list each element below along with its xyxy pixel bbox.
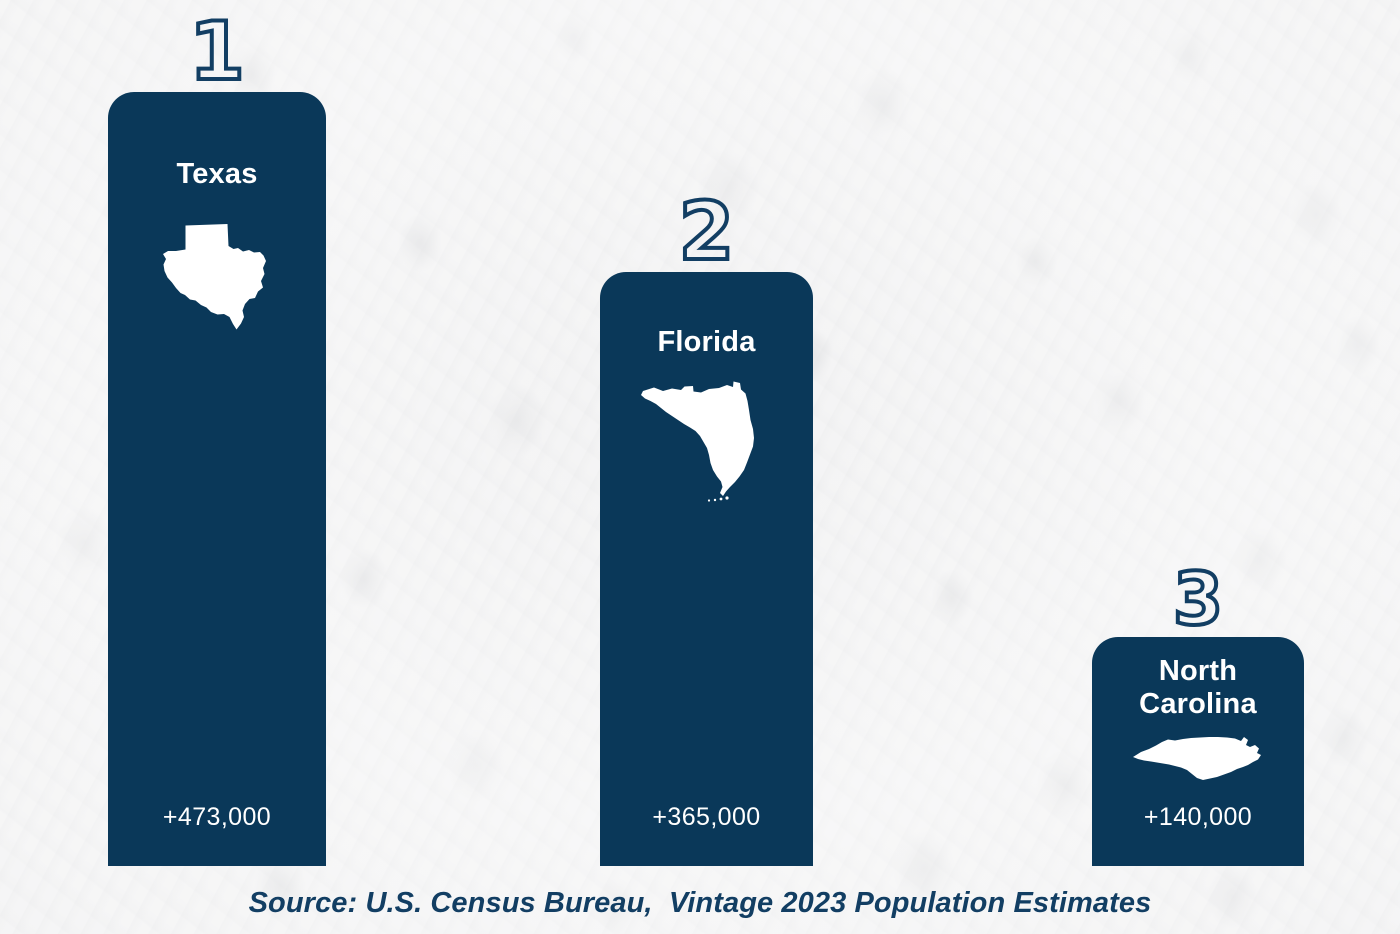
population-growth-infographic: 1 Texas +473,000 2 Florida xyxy=(0,0,1400,934)
bar-north-carolina[interactable]: North Carolina +140,000 xyxy=(1092,637,1304,866)
bar-group-north-carolina[interactable]: 3 North Carolina +140,000 xyxy=(1092,637,1304,866)
state-label-north-carolina: North Carolina xyxy=(1139,655,1257,721)
bar-florida[interactable]: Florida +365,000 xyxy=(600,272,813,866)
bar-group-florida[interactable]: 2 Florida +365,000 xyxy=(600,272,813,866)
north-carolina-state-shape-icon xyxy=(1131,731,1265,783)
value-label-texas: +473,000 xyxy=(108,803,326,832)
bar-chart: 1 Texas +473,000 2 Florida xyxy=(0,0,1400,934)
value-label-florida: +365,000 xyxy=(600,803,813,832)
value-label-north-carolina: +140,000 xyxy=(1092,803,1304,832)
state-label-florida: Florida xyxy=(657,326,755,359)
florida-state-shape-icon xyxy=(637,375,777,503)
state-label-texas: Texas xyxy=(176,158,257,191)
bar-group-texas[interactable]: 1 Texas +473,000 xyxy=(108,92,326,866)
bar-texas[interactable]: Texas +473,000 xyxy=(108,92,326,866)
texas-state-shape-icon xyxy=(159,211,275,333)
rank-number-1: 1 xyxy=(189,12,245,92)
rank-number-2: 2 xyxy=(679,192,735,272)
rank-number-3: 3 xyxy=(1173,563,1223,635)
source-note: Source: U.S. Census Bureau, Vintage 2023… xyxy=(0,887,1400,920)
